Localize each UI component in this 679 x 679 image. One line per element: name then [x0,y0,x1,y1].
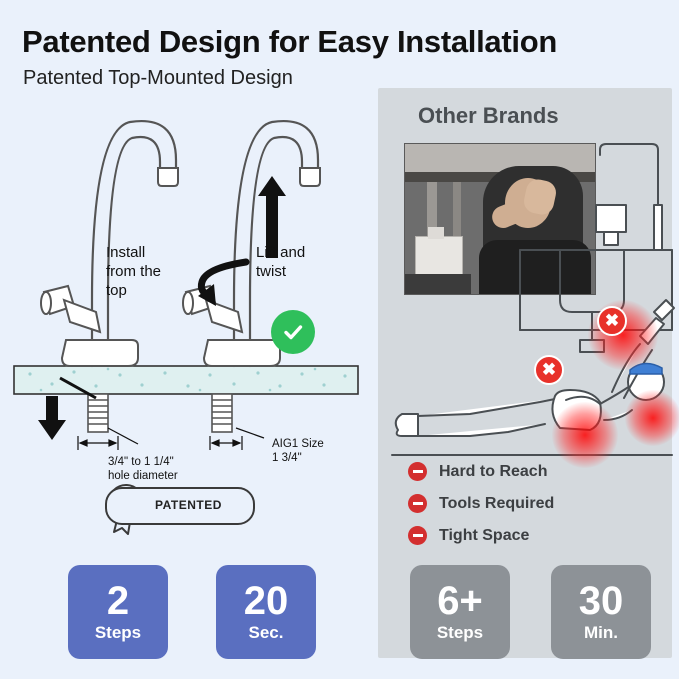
aig1-size-label: AIG1 Size 1 3/4" [272,437,324,465]
hole-diameter-label: 3/4" to 1 1/4" hole diameter [108,455,178,483]
stat-number: 6+ [437,581,483,621]
stat-box-steps-2: 2 Steps [68,565,168,659]
bullet-label: Tight Space [439,527,529,545]
minus-icon [408,526,427,545]
stop-icon-lower: ✖ [534,355,564,385]
pain-glow-back [552,402,618,468]
lift-and-twist-label: Lift and twist [256,243,305,281]
list-item: Hard to Reach [408,462,658,481]
stat-number: 20 [244,581,289,621]
install-from-top-label: Install from the top [106,243,161,300]
stat-label: Steps [437,623,483,643]
stat-box-steps-6plus: 6+ Steps [410,565,510,659]
list-item: Tight Space [408,526,658,545]
stop-icon-upper: ✖ [597,306,627,336]
patented-badge: PATENTED [105,487,255,525]
under-sink-photo [404,143,596,295]
bullet-label: Hard to Reach [439,463,547,481]
list-item: Tools Required [408,494,658,513]
stat-box-seconds-20: 20 Sec. [216,565,316,659]
page-subtitle: Patented Top-Mounted Design [23,67,293,90]
stat-box-minutes-30: 30 Min. [551,565,651,659]
pain-glow-neck [625,390,679,446]
problem-bullet-list: Hard to Reach Tools Required Tight Space [408,462,658,558]
other-brands-title: Other Brands [418,103,559,129]
stat-number: 30 [579,581,624,621]
stat-number: 2 [107,581,129,621]
page-title: Patented Design for Easy Installation [22,24,672,60]
bullet-label: Tools Required [439,495,554,513]
stat-label: Min. [584,623,618,643]
patented-badge-label: PATENTED [155,498,222,512]
infographic-page: Patented Design for Easy Installation Pa… [0,0,679,679]
minus-icon [408,462,427,481]
check-mark-icon [271,310,315,354]
stat-label: Sec. [249,623,284,643]
stat-label: Steps [95,623,141,643]
minus-icon [408,494,427,513]
